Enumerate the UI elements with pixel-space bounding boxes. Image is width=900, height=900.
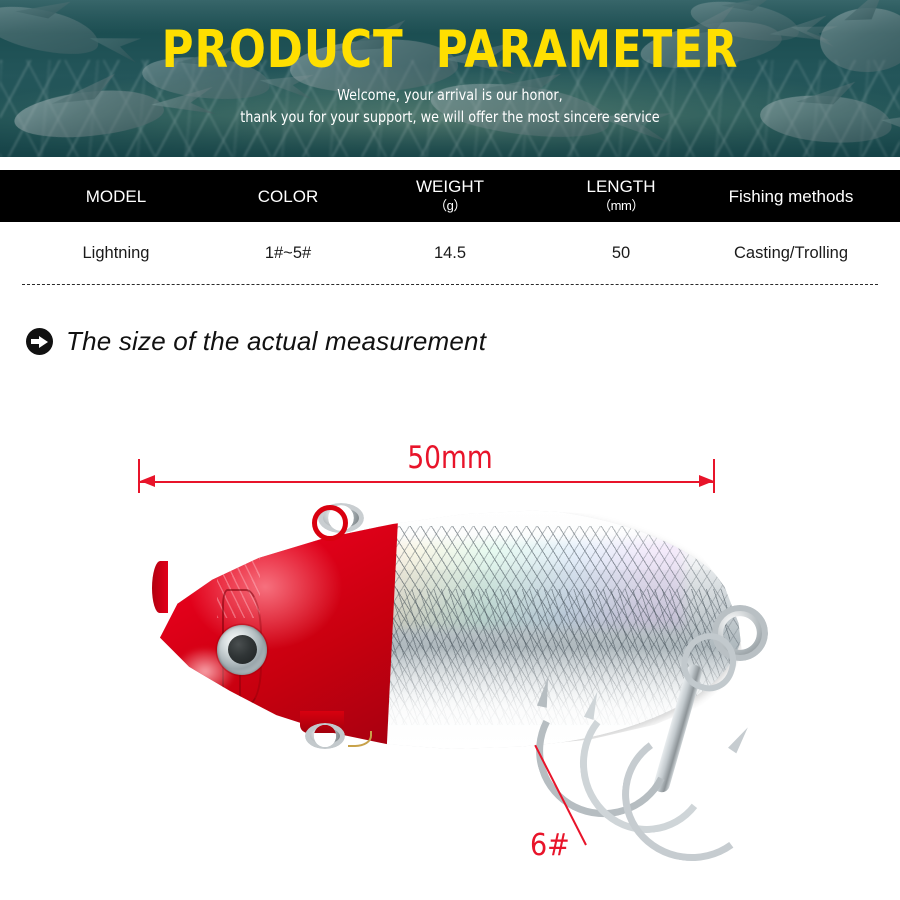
column-header-label: Fishing methods bbox=[729, 187, 854, 206]
column-header-label: MODEL bbox=[86, 187, 146, 206]
lure-eye bbox=[217, 625, 267, 675]
lure-red-head bbox=[160, 507, 399, 749]
cell-model: Lightning bbox=[30, 238, 202, 268]
dimension-arrow-right-icon bbox=[699, 475, 714, 487]
product-photo-fishing-lure: 6# bbox=[0, 495, 900, 895]
cell-fishing-methods: Casting/Trolling bbox=[700, 238, 882, 268]
table-bottom-divider bbox=[22, 284, 878, 285]
column-header-label: LENGTH bbox=[587, 177, 656, 196]
dimension-arrow-left-icon bbox=[140, 475, 155, 487]
column-header-unit: （mm） bbox=[598, 196, 644, 215]
column-header-unit: （g） bbox=[434, 196, 466, 215]
lure-pupil bbox=[228, 635, 257, 664]
measurement-note: The size of the actual measurement bbox=[26, 326, 486, 357]
column-header-color: COLOR bbox=[202, 170, 374, 222]
column-header-weight: WEIGHT （g） bbox=[374, 170, 526, 222]
dimension-line bbox=[140, 481, 714, 483]
column-header-length: LENGTH （mm） bbox=[546, 170, 696, 222]
banner-subtitle-line-2: thank you for your support, we will offe… bbox=[36, 106, 864, 128]
cell-weight: 14.5 bbox=[374, 238, 526, 268]
spec-table-header: MODEL COLOR WEIGHT （g） LENGTH （mm） Fishi… bbox=[0, 170, 900, 222]
column-header-label: WEIGHT bbox=[416, 177, 484, 196]
hook-size-label: 6# bbox=[530, 828, 570, 863]
banner-subtitle: Welcome, your arrival is our honor, than… bbox=[36, 84, 864, 128]
column-header-model: MODEL bbox=[30, 170, 202, 222]
circle-arrow-right-icon bbox=[26, 328, 53, 355]
cell-length: 50 bbox=[546, 238, 696, 268]
lure-line-tie-ring bbox=[318, 503, 364, 533]
column-header-label: COLOR bbox=[258, 187, 318, 206]
length-dimension-label: 50mm bbox=[23, 440, 878, 476]
lure-belly-split-ring bbox=[305, 723, 345, 749]
page-title: PRODUCT PARAMETER bbox=[32, 22, 869, 78]
split-ring-icon bbox=[305, 723, 345, 749]
banner-subtitle-line-1: Welcome, your arrival is our honor, bbox=[36, 84, 864, 106]
lure-snout bbox=[152, 561, 168, 613]
product-banner: PRODUCT PARAMETER Welcome, your arrival … bbox=[0, 0, 900, 157]
lure-belly-wire bbox=[348, 731, 372, 747]
measurement-note-text: The size of the actual measurement bbox=[66, 326, 486, 357]
column-header-fishing-methods: Fishing methods bbox=[700, 170, 882, 222]
line-tie-eyelet-icon bbox=[312, 505, 348, 541]
cell-color: 1#~5# bbox=[202, 238, 374, 268]
